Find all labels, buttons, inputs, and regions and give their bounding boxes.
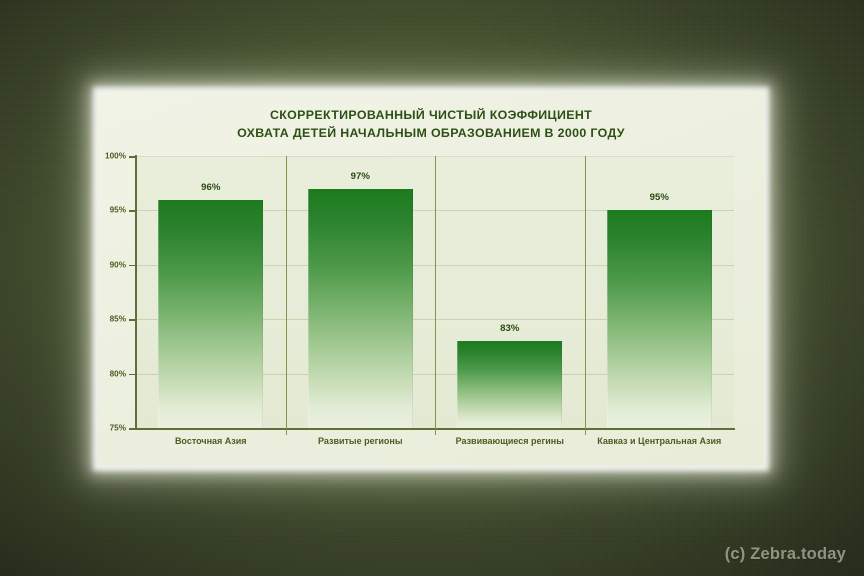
bar-value-label: 95% [650,192,669,203]
y-axis-labels: 75%80%85%90%95%100% [98,92,126,466]
bar-value-label: 83% [500,323,519,334]
chart-title-line-1: СКОРРЕКТИРОВАННЫЙ ЧИСТЫЙ КОЭФФИЦИЕНТ [98,106,764,124]
bar-value-label: 96% [201,182,220,193]
bar[interactable] [158,200,263,428]
category-label: Кавказ и Центральная Азия [597,436,721,446]
y-axis-tick-label: 85% [92,315,126,324]
category-label: Развивающиеся регины [456,436,564,446]
y-axis-tick-mark [129,210,135,212]
y-axis-tick-mark [129,319,135,321]
bar-value-label: 97% [351,171,370,182]
bar[interactable] [457,341,562,428]
category-separator [286,156,287,435]
y-axis-tick-label: 95% [92,206,126,215]
y-axis-tick-mark [129,265,135,267]
category-label: Восточная Азия [175,436,247,446]
bar[interactable] [308,189,413,428]
y-axis-tick-label: 90% [92,260,126,269]
y-axis-tick-mark [129,374,135,376]
y-axis-tick-mark [129,428,135,430]
y-axis-tick-mark [129,156,135,158]
category-separator [585,156,586,435]
chart-title: СКОРРЕКТИРОВАННЫЙ ЧИСТЫЙ КОЭФФИЦИЕНТ ОХВ… [98,106,764,142]
watermark: (c) Zebra.today [725,545,846,564]
chart-title-line-2: ОХВАТА ДЕТЕЙ НАЧАЛЬНЫМ ОБРАЗОВАНИЕМ В 20… [98,124,764,142]
category-label: Развитые регионы [318,436,403,446]
y-axis-tick-label: 100% [92,152,126,161]
bar[interactable] [607,210,712,428]
y-axis-tick-label: 80% [92,369,126,378]
chart-card: СКОРРЕКТИРОВАННЫЙ ЧИСТЫЙ КОЭФФИЦИЕНТ ОХВ… [98,92,764,466]
y-axis-line [135,155,137,429]
category-separator [435,156,436,435]
y-axis-tick-label: 75% [92,424,126,433]
